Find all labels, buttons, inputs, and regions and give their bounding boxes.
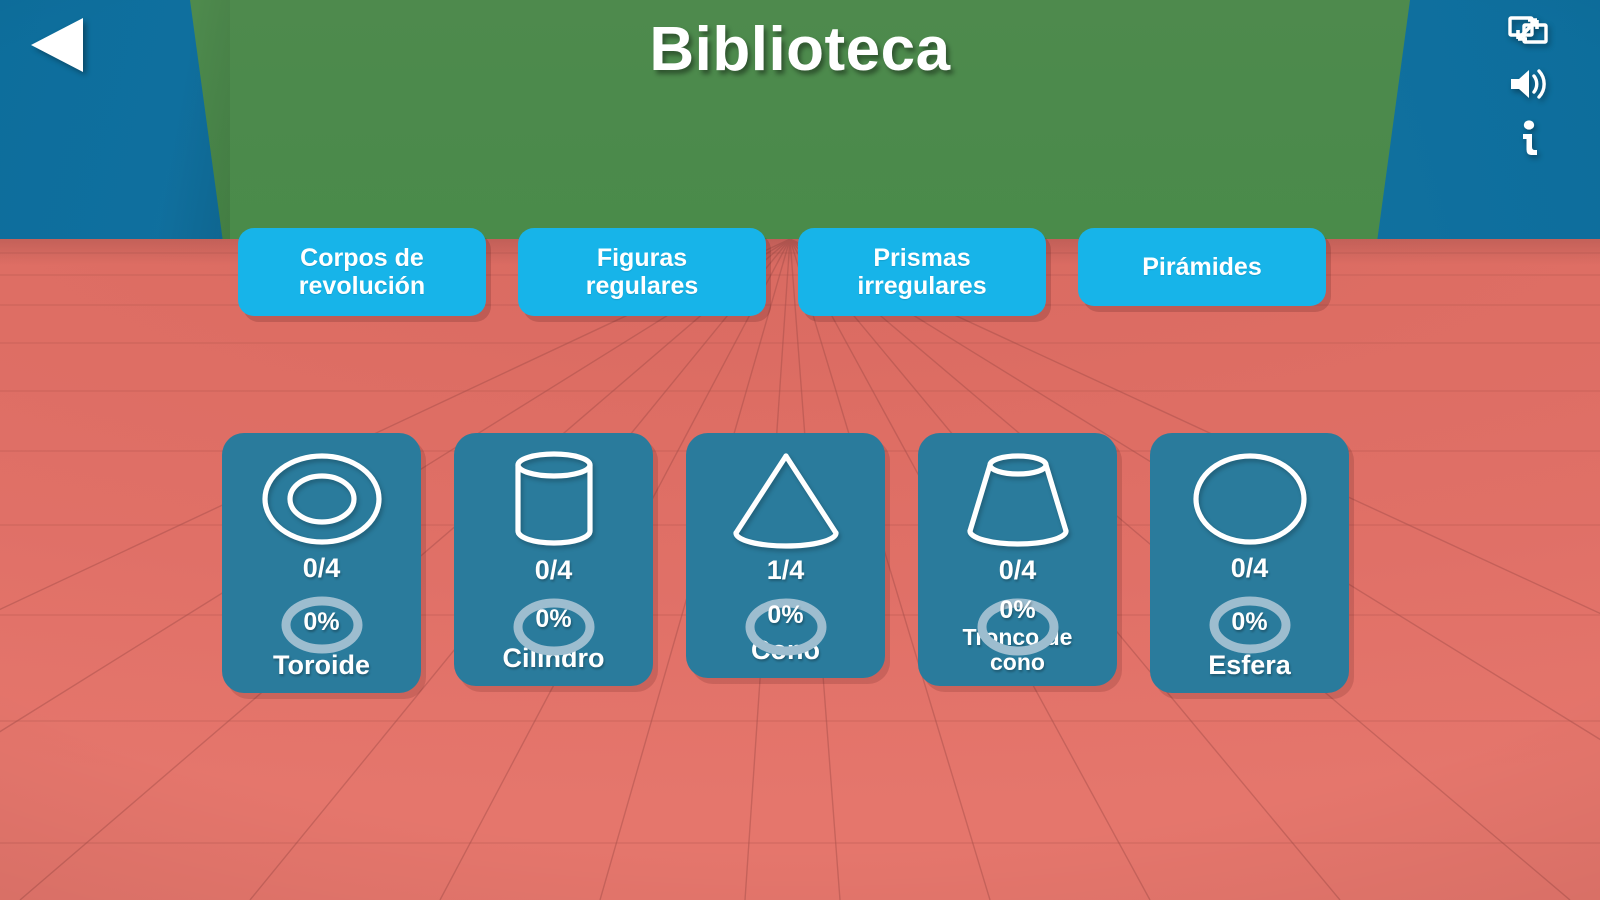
cylinder-icon bbox=[479, 451, 629, 549]
shape-score: 0/4 bbox=[999, 555, 1037, 586]
category-button-row: Corpos de revolución Figuras regulares P… bbox=[238, 228, 1326, 316]
progress-ring: 0% bbox=[510, 596, 598, 644]
top-icon-bar bbox=[1500, 8, 1556, 160]
shape-score: 0/4 bbox=[303, 553, 341, 584]
category-button-corpos-de-revolucion[interactable]: Corpos de revolución bbox=[238, 228, 486, 316]
volume-icon[interactable] bbox=[1506, 62, 1550, 106]
shape-score: 0/4 bbox=[1231, 553, 1269, 584]
sphere-icon bbox=[1175, 451, 1325, 547]
category-button-figuras-regulares[interactable]: Figuras regulares bbox=[518, 228, 766, 316]
frustum-icon bbox=[943, 451, 1093, 549]
page-title: Biblioteca bbox=[0, 14, 1600, 85]
progress-percent: 0% bbox=[303, 608, 339, 637]
progress-ring: 0% bbox=[278, 594, 366, 651]
shape-card-toroide[interactable]: 0/4 0% Toroide bbox=[222, 433, 421, 693]
progress-ring: 0% bbox=[974, 596, 1062, 625]
cone-icon bbox=[711, 451, 861, 549]
shape-card-esfera[interactable]: 0/4 0% Esfera bbox=[1150, 433, 1349, 693]
progress-ring: 0% bbox=[1206, 594, 1294, 651]
shape-card-tronco-de-cono[interactable]: 0/4 0% Tronco de cono bbox=[918, 433, 1117, 686]
shape-score: 0/4 bbox=[535, 555, 573, 586]
progress-percent: 0% bbox=[999, 596, 1035, 625]
fullscreen-icon[interactable] bbox=[1506, 8, 1550, 52]
shape-card-cilindro[interactable]: 0/4 0% Cilindro bbox=[454, 433, 653, 686]
progress-percent: 0% bbox=[535, 605, 571, 634]
shape-card-cono[interactable]: 1/4 0% Cono bbox=[686, 433, 885, 678]
category-button-piramides[interactable]: Pirámides bbox=[1078, 228, 1326, 306]
info-icon[interactable] bbox=[1506, 116, 1550, 160]
shape-card-row: 0/4 0% Toroide bbox=[222, 433, 1349, 693]
app-screen: Biblioteca bbox=[0, 0, 1600, 900]
torus-icon bbox=[247, 451, 397, 547]
category-button-prismas-irregulares[interactable]: Prismas irregulares bbox=[798, 228, 1046, 316]
progress-percent: 0% bbox=[1231, 608, 1267, 637]
progress-percent: 0% bbox=[767, 601, 803, 630]
progress-ring: 0% bbox=[742, 596, 830, 636]
shape-score: 1/4 bbox=[767, 555, 805, 586]
